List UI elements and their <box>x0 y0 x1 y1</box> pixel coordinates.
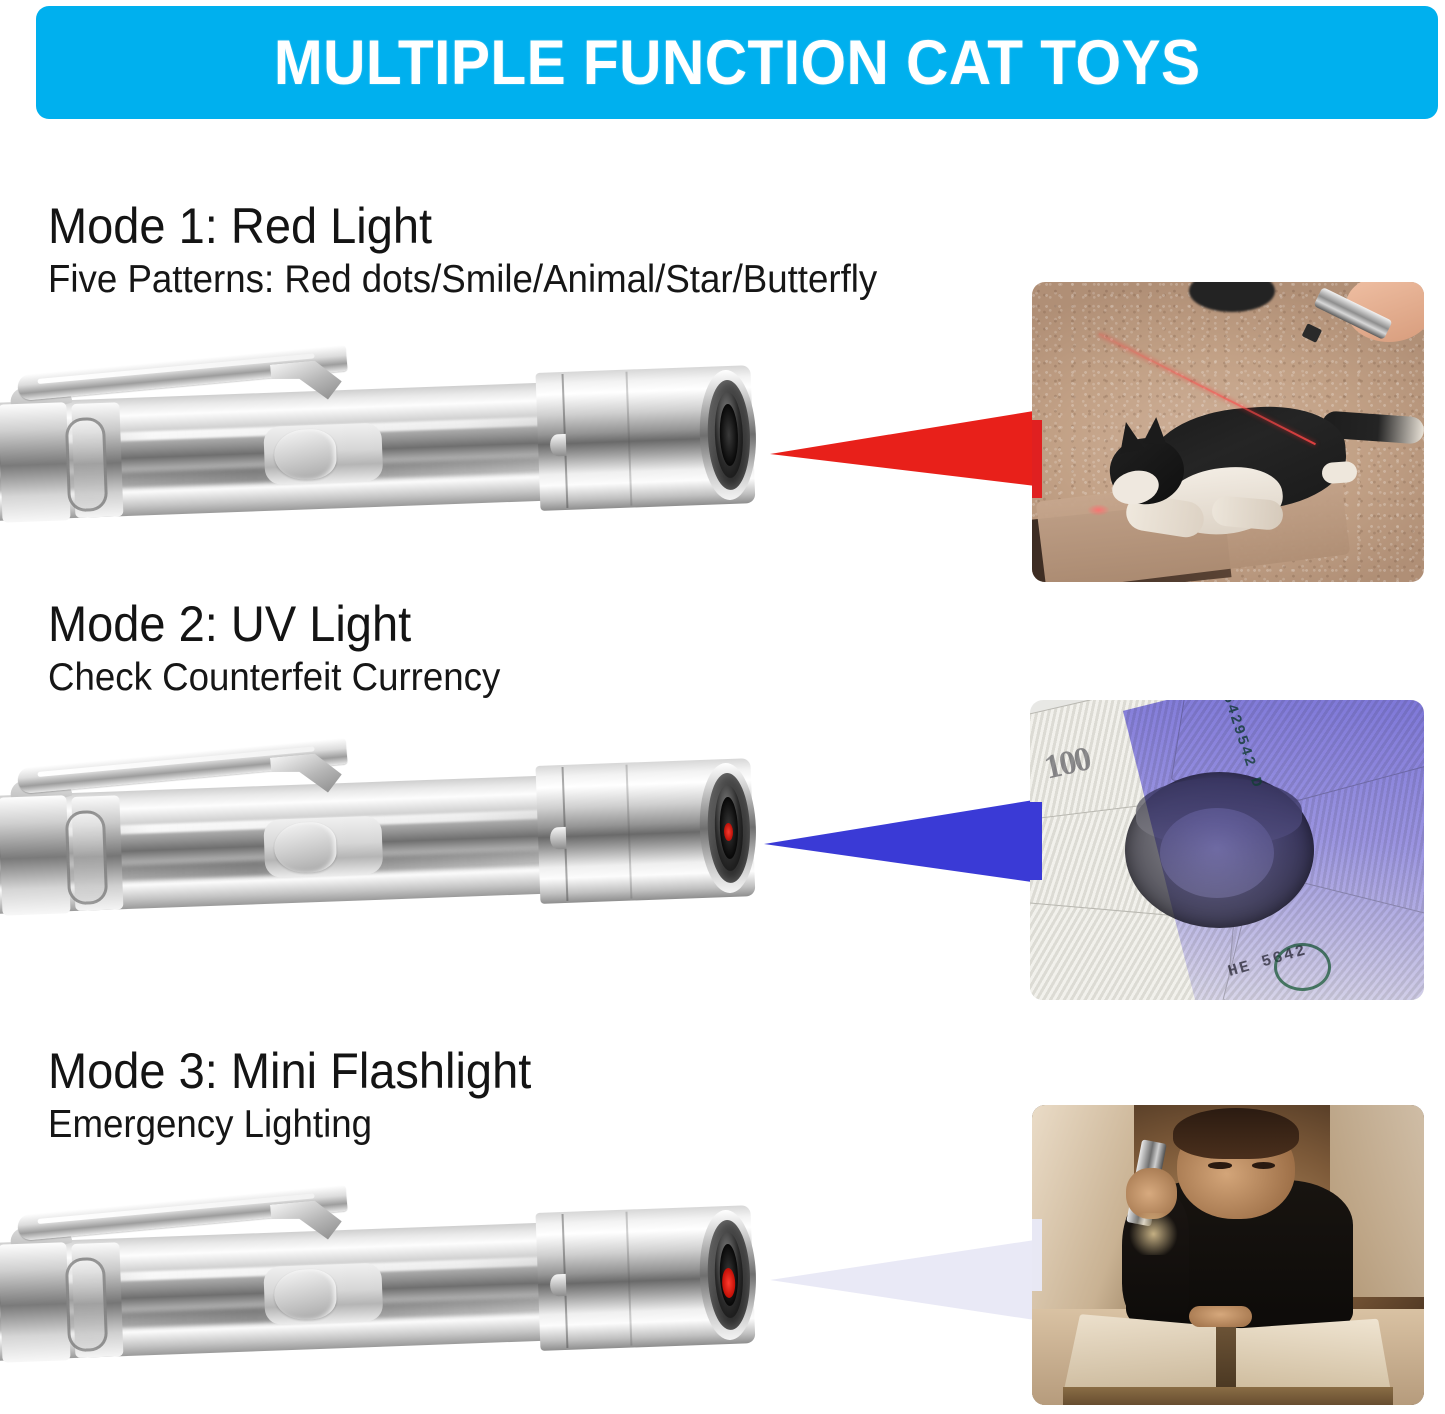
beam-edge-overlap-red <box>1032 420 1042 498</box>
white-flashlight-beam <box>770 1218 1048 1368</box>
boy-hand <box>1126 1168 1177 1219</box>
pen-power-button[interactable] <box>273 821 337 873</box>
mode-2-title: Mode 2: UV Light <box>48 598 411 650</box>
mode-2-photo-currency: 100 HE 56429542 D HE 5642 <box>1030 700 1424 1000</box>
boy-photo-scene <box>1032 1105 1424 1405</box>
page-title: MULTIPLE FUNCTION CAT TOYS <box>274 27 1201 99</box>
boy-fingers <box>1189 1306 1252 1327</box>
pen-clip-loop <box>65 1257 108 1352</box>
boy-hair <box>1173 1108 1298 1159</box>
mode-3-subtitle: Emergency Lighting <box>48 1105 372 1146</box>
mode-3-title: Mode 3: Mini Flashlight <box>48 1045 531 1097</box>
mode-1-photo-cat <box>1032 282 1424 582</box>
pen-clip-band <box>0 795 71 915</box>
uv-blue-beam <box>764 778 1046 928</box>
pen-clip-band <box>0 1242 71 1362</box>
mode-2-subtitle: Check Counterfeit Currency <box>48 658 500 699</box>
currency-photo-scene: 100 HE 56429542 D HE 5642 <box>1030 700 1424 1000</box>
pen-head-notch <box>550 434 567 457</box>
book-edge <box>1063 1387 1392 1405</box>
header-banner: MULTIPLE FUNCTION CAT TOYS <box>36 6 1438 119</box>
pen-power-button[interactable] <box>273 1268 337 1320</box>
boy-eye-right <box>1252 1162 1276 1169</box>
red-laser-beam <box>770 380 1052 530</box>
beam-edge-overlap-white <box>1032 1219 1042 1291</box>
laser-pen-device-1 <box>0 345 768 545</box>
pen-head-notch <box>550 1274 567 1297</box>
cat-photo-scene <box>1032 282 1424 582</box>
laser-pen-device-3 <box>0 1185 768 1385</box>
pen-clip-loop <box>65 810 108 905</box>
mode-1-subtitle: Five Patterns: Red dots/Smile/Animal/Sta… <box>48 260 877 301</box>
boy-eye-left <box>1208 1162 1232 1169</box>
mode-1-title: Mode 1: Red Light <box>48 200 432 252</box>
laser-pen-device-2 <box>0 738 768 938</box>
pen-led-red <box>724 823 734 841</box>
pen-head-notch <box>550 827 567 850</box>
pen-clip-band <box>0 402 71 522</box>
beam-edge-overlap-blue <box>1030 802 1042 880</box>
cat-rear-leg <box>1211 495 1284 531</box>
flashlight-glow <box>1126 1213 1181 1255</box>
mode-3-photo-boy-reading <box>1032 1105 1424 1405</box>
pen-clip-loop <box>65 417 108 512</box>
pen-power-button[interactable] <box>273 428 337 480</box>
